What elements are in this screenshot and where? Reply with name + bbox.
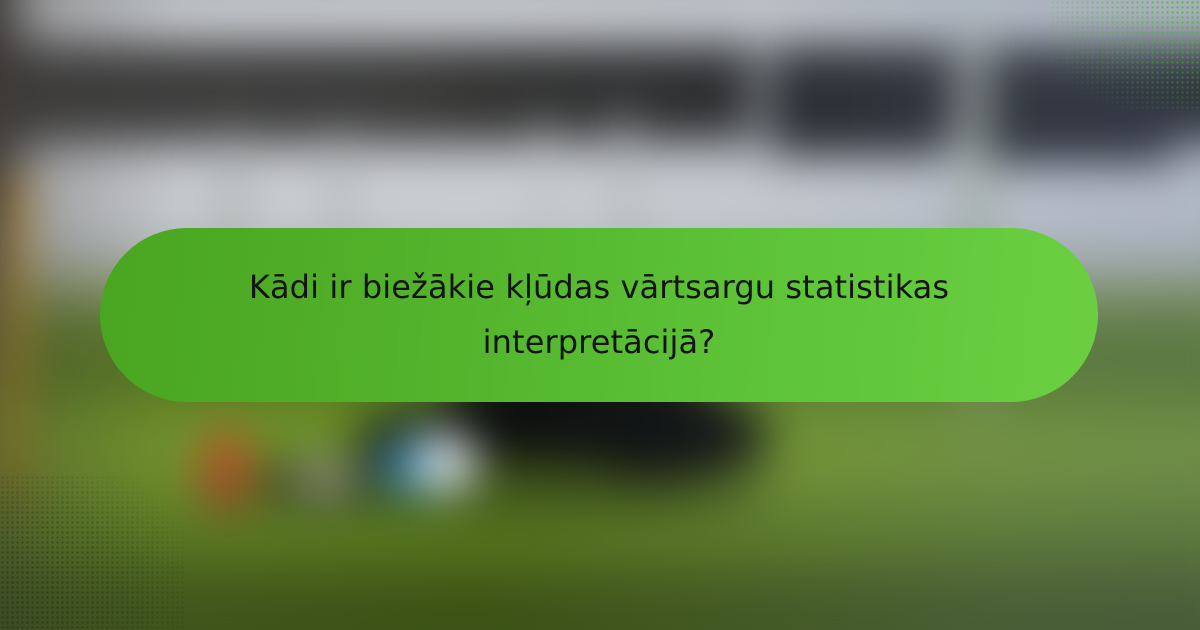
headline-pill: Kādi ir biežākie kļūdas vārtsargu statis…: [100, 228, 1098, 402]
social-share-card: Kādi ir biežākie kļūdas vārtsargu statis…: [0, 0, 1200, 630]
headline-text: Kādi ir biežākie kļūdas vārtsargu statis…: [210, 260, 988, 370]
